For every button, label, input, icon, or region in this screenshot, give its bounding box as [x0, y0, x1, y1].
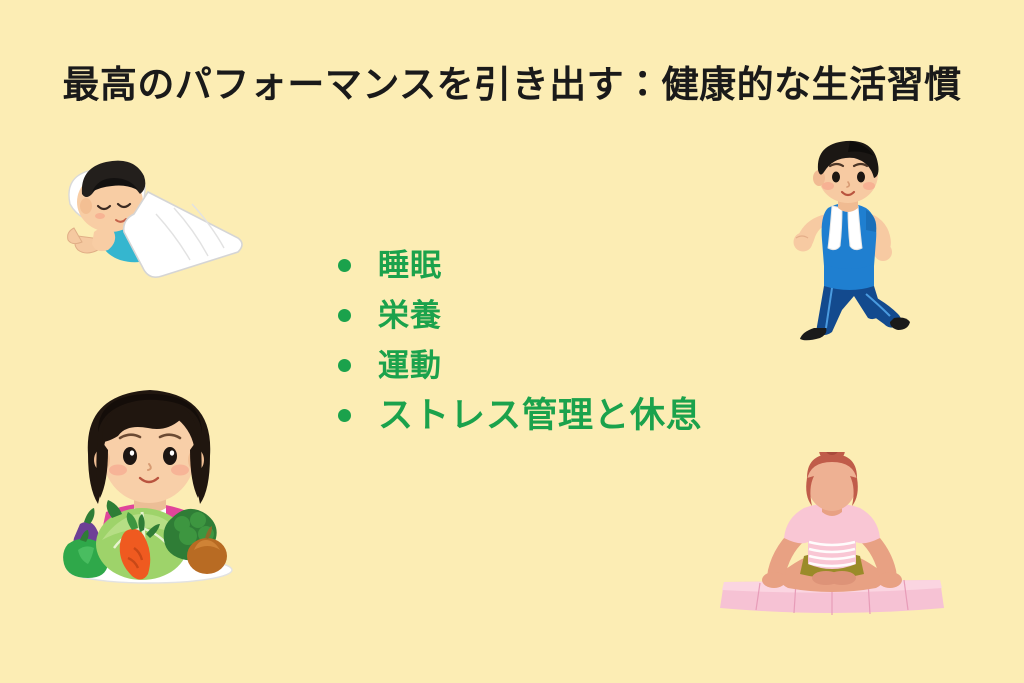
bullet-marker-icon	[338, 309, 351, 322]
list-item-label: ストレス管理と休息	[378, 398, 702, 433]
bullet-marker-icon	[338, 359, 351, 372]
list-item-label: 栄養	[378, 300, 442, 331]
girl-with-vegetables-illustration	[62, 372, 237, 587]
page-title: 最高のパフォーマンスを引き出す：健康的な生活習慣	[0, 64, 1024, 107]
healthy-habits-bullet-list: 睡眠 栄養 運動 ストレス管理と休息	[338, 240, 702, 440]
list-item[interactable]: 運動	[338, 340, 702, 390]
list-item[interactable]: ストレス管理と休息	[338, 390, 702, 440]
list-item[interactable]: 睡眠	[338, 240, 702, 290]
meditating-woman-illustration	[712, 452, 952, 617]
bullet-marker-icon	[338, 409, 351, 422]
slide-canvas: 最高のパフォーマンスを引き出す：健康的な生活習慣	[0, 0, 1024, 683]
sleeping-boy-illustration	[52, 132, 252, 282]
list-item[interactable]: 栄養	[338, 290, 702, 340]
list-item-label: 運動	[378, 350, 442, 381]
bullet-marker-icon	[338, 259, 351, 272]
jogging-man-illustration	[770, 136, 930, 341]
list-item-label: 睡眠	[378, 250, 442, 281]
